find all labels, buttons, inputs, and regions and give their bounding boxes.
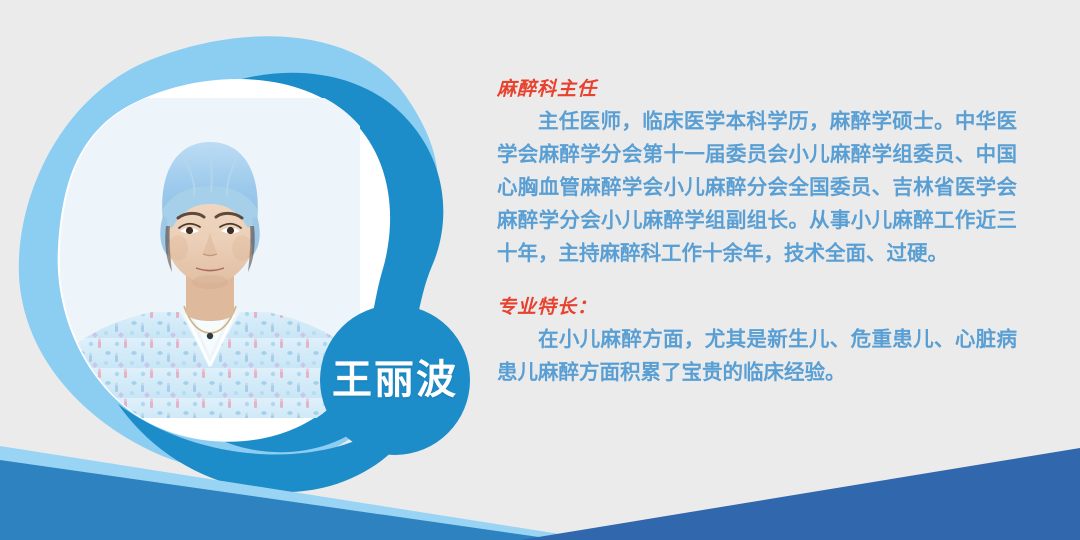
portrait-group: 王丽波 [0, 0, 480, 500]
profile-text-column: 麻醉科主任 主任医师，临床医学本科学历，麻醉学硕士。中华医学会麻醉学分会第十一届… [497, 78, 1017, 389]
ribbon-dark-blue-icon [520, 448, 1080, 540]
title-body: 主任医师，临床医学本科学历，麻醉学硕士。中华医学会麻醉学分会第十一届委员会小儿麻… [497, 105, 1017, 270]
doctor-name: 王丽波 [332, 360, 458, 400]
name-badge: 王丽波 [320, 305, 470, 455]
specialty-body: 在小儿麻醉方面，尤其是新生儿、危重患儿、心脏病患儿麻醉方面积累了宝贵的临床经验。 [497, 323, 1017, 389]
doctor-profile-card: 王丽波 麻醉科主任 主任医师，临床医学本科学历，麻醉学硕士。中华医学会麻醉学分会… [0, 0, 1080, 540]
doctor-photo [60, 98, 360, 418]
section-specialty-block: 专业特长： 在小儿麻醉方面，尤其是新生儿、危重患儿、心脏病患儿麻醉方面积累了宝贵… [497, 296, 1017, 389]
title-heading: 麻醉科主任 [497, 78, 1017, 101]
section-title-block: 麻醉科主任 主任医师，临床医学本科学历，麻醉学硕士。中华医学会麻醉学分会第十一届… [497, 78, 1017, 270]
specialty-heading: 专业特长： [497, 296, 1017, 319]
